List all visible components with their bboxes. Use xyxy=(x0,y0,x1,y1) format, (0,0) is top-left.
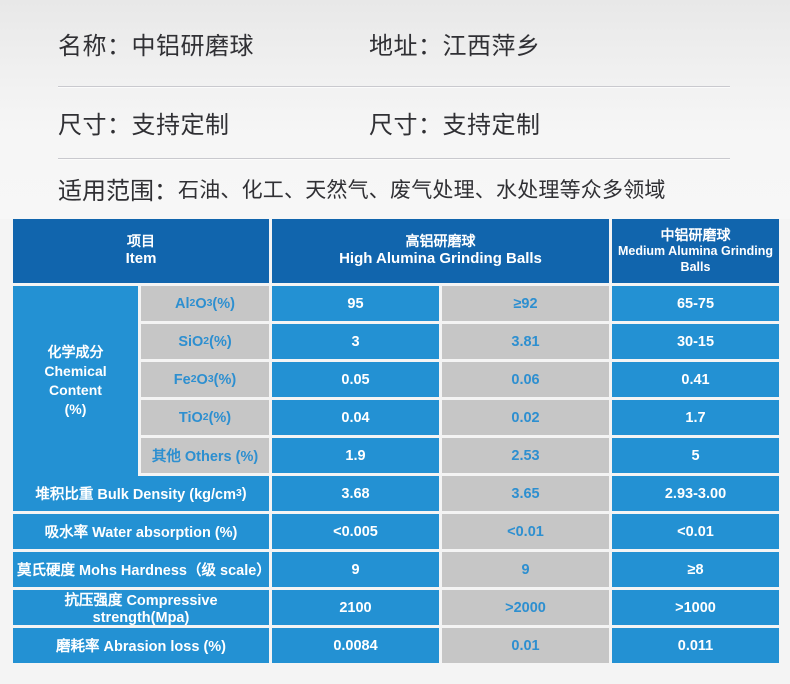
chem-row-label: Fe2O3(%) xyxy=(141,362,269,397)
prop-row-label: 莫氏硬度 Mohs Hardness（级 scale） xyxy=(13,552,269,587)
chem-row-value-high: 95 xyxy=(272,286,439,321)
table-row: 其他 Others (%)1.92.535 xyxy=(141,438,779,473)
address-text: 地址：江西萍乡 xyxy=(369,26,541,61)
chem-row-value-high: 3 xyxy=(272,324,439,359)
header-medium-alumina-cn: 中铝研磨球 xyxy=(661,227,731,244)
chemical-rows: Al2O3(%)95≥9265-75SiO2(%)33.8130-15Fe2O3… xyxy=(141,286,779,476)
info-row-scope: 适用范围： 石油、化工、天然气、废气处理、水处理等众多领域 xyxy=(0,158,790,219)
scope-label: 适用范围： xyxy=(58,171,178,206)
prop-row-value-high: <0.005 xyxy=(272,514,439,549)
property-rows: 堆积比重 Bulk Density (kg/cm3)3.683.652.93-3… xyxy=(13,476,777,663)
prop-row-value-medium: 2.93-3.00 xyxy=(612,476,779,511)
chem-row-value-high: 0.04 xyxy=(272,400,439,435)
chemical-content-en-3: (%) xyxy=(65,400,87,419)
prop-row-value-medium: 0.011 xyxy=(612,628,779,663)
table-header-row: 项目 Item 高铝研磨球 High Alumina Grinding Ball… xyxy=(13,219,777,283)
prop-row-label: 堆积比重 Bulk Density (kg/cm3) xyxy=(13,476,269,511)
chem-row-value-high-alt: ≥92 xyxy=(442,286,609,321)
table-row: 抗压强度 Compressive strength(Mpa)2100>2000>… xyxy=(13,590,777,625)
table-row: 莫氏硬度 Mohs Hardness（级 scale）99≥8 xyxy=(13,552,777,587)
size-text-right: 尺寸：支持定制 xyxy=(369,105,541,140)
chem-row-label: 其他 Others (%) xyxy=(141,438,269,473)
chemical-content-block: 化学成分 Chemical Content (%) Al2O3(%)95≥926… xyxy=(13,286,777,476)
chem-row-value-high-alt: 3.81 xyxy=(442,324,609,359)
prop-row-label: 抗压强度 Compressive strength(Mpa) xyxy=(13,590,269,625)
prop-row-value-high-alt: 0.01 xyxy=(442,628,609,663)
header-medium-alumina: 中铝研磨球 Medium Alumina Grinding Balls xyxy=(612,219,779,283)
chemical-content-en-1: Chemical xyxy=(44,362,106,381)
prop-row-value-high: 9 xyxy=(272,552,439,587)
header-high-alumina-en: High Alumina Grinding Balls xyxy=(339,250,542,268)
table-row: 堆积比重 Bulk Density (kg/cm3)3.683.652.93-3… xyxy=(13,476,777,511)
chem-row-value-medium: 5 xyxy=(612,438,779,473)
info-row-name-address: 名称：中铝研磨球 地址：江西萍乡 xyxy=(0,0,790,86)
table-row: Fe2O3(%)0.050.060.41 xyxy=(141,362,779,397)
chem-row-value-medium: 0.41 xyxy=(612,362,779,397)
chem-row-value-high: 0.05 xyxy=(272,362,439,397)
chem-row-value-high: 1.9 xyxy=(272,438,439,473)
prop-row-value-medium: <0.01 xyxy=(612,514,779,549)
chem-row-label: Al2O3(%) xyxy=(141,286,269,321)
product-name-text: 名称：中铝研磨球 xyxy=(58,26,369,61)
chem-row-value-medium: 30-15 xyxy=(612,324,779,359)
chem-row-value-medium: 1.7 xyxy=(612,400,779,435)
prop-row-value-high: 3.68 xyxy=(272,476,439,511)
chemical-content-label: 化学成分 Chemical Content (%) xyxy=(13,286,138,476)
size-text-left: 尺寸：支持定制 xyxy=(58,105,369,140)
table-row: SiO2(%)33.8130-15 xyxy=(141,324,779,359)
header-high-alumina: 高铝研磨球 High Alumina Grinding Balls xyxy=(272,219,609,283)
table-row: 磨耗率 Abrasion loss (%)0.00840.010.011 xyxy=(13,628,777,663)
table-row: Al2O3(%)95≥9265-75 xyxy=(141,286,779,321)
prop-row-value-high-alt: 9 xyxy=(442,552,609,587)
info-row-size: 尺寸：支持定制 尺寸：支持定制 xyxy=(0,86,790,158)
chemical-content-cn: 化学成分 xyxy=(48,343,104,362)
header-item-en: Item xyxy=(126,250,157,268)
product-info-panel: 名称：中铝研磨球 地址：江西萍乡 尺寸：支持定制 尺寸：支持定制 适用范围： 石… xyxy=(0,0,790,219)
table-row: TiO2(%)0.040.021.7 xyxy=(141,400,779,435)
scope-value: 石油、化工、天然气、废气处理、水处理等众多领域 xyxy=(178,174,666,204)
chem-row-label: TiO2(%) xyxy=(141,400,269,435)
prop-row-value-medium: >1000 xyxy=(612,590,779,625)
chem-row-value-high-alt: 2.53 xyxy=(442,438,609,473)
chem-row-value-medium: 65-75 xyxy=(612,286,779,321)
header-medium-alumina-en: Medium Alumina Grinding Balls xyxy=(616,244,775,275)
prop-row-value-high-alt: <0.01 xyxy=(442,514,609,549)
prop-row-value-medium: ≥8 xyxy=(612,552,779,587)
prop-row-value-high-alt: 3.65 xyxy=(442,476,609,511)
chem-row-value-high-alt: 0.02 xyxy=(442,400,609,435)
prop-row-label: 磨耗率 Abrasion loss (%) xyxy=(13,628,269,663)
chem-row-value-high-alt: 0.06 xyxy=(442,362,609,397)
chem-row-label: SiO2(%) xyxy=(141,324,269,359)
header-item-cn: 项目 xyxy=(127,233,155,250)
prop-row-value-high-alt: >2000 xyxy=(442,590,609,625)
chemical-content-en-2: Content xyxy=(49,381,102,400)
prop-row-value-high: 0.0084 xyxy=(272,628,439,663)
prop-row-value-high: 2100 xyxy=(272,590,439,625)
specification-table: 项目 Item 高铝研磨球 High Alumina Grinding Ball… xyxy=(0,219,790,663)
prop-row-label: 吸水率 Water absorption (%) xyxy=(13,514,269,549)
header-high-alumina-cn: 高铝研磨球 xyxy=(406,233,476,250)
header-item: 项目 Item xyxy=(13,219,269,283)
table-row: 吸水率 Water absorption (%)<0.005<0.01<0.01 xyxy=(13,514,777,549)
